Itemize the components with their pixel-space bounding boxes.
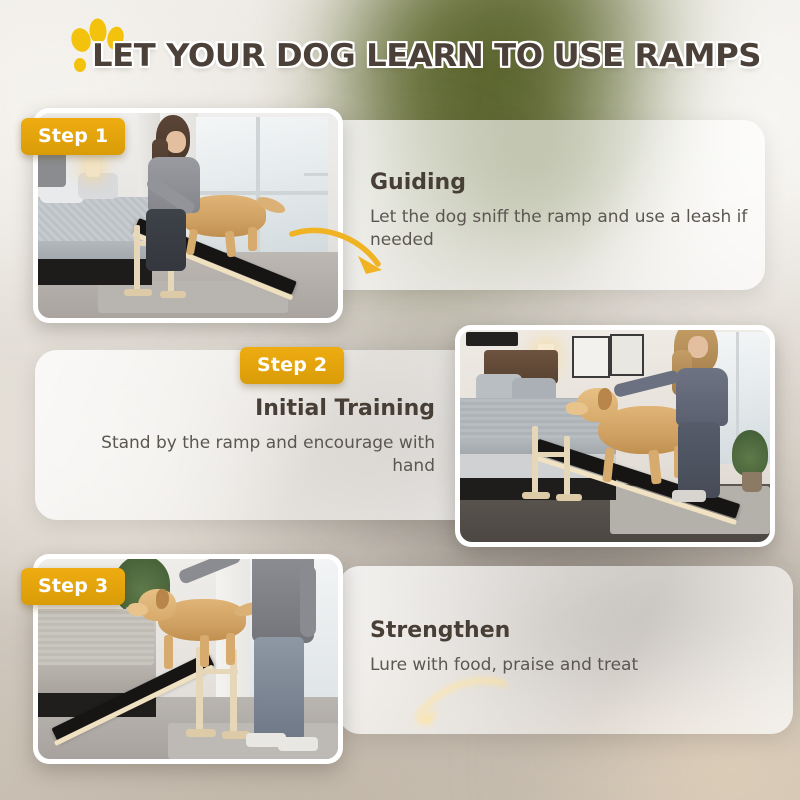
step-3-badge: Step 3 [21, 568, 125, 605]
step-row-2: Initial Training Stand by the ramp and e… [0, 322, 800, 547]
step-2-badge: Step 2 [240, 347, 344, 384]
step-3-heading: Strengthen [370, 620, 510, 642]
step-row-3: Strengthen Lure with food, praise and tr… [0, 548, 800, 763]
step-3-text-panel: Strengthen Lure with food, praise and tr… [338, 566, 793, 734]
infographic-poster: LET YOUR DOG LEARN TO USE RAMPS Guiding … [0, 0, 800, 800]
page-title: LET YOUR DOG LEARN TO USE RAMPS [92, 41, 799, 72]
step-2-photo [460, 330, 770, 542]
step-1-body: Let the dog sniff the ramp and use a lea… [370, 206, 750, 253]
step-2-body: Stand by the ramp and encourage with han… [55, 432, 435, 479]
step-1-text-panel: Guiding Let the dog sniff the ramp and u… [310, 120, 765, 290]
poster-header: LET YOUR DOG LEARN TO USE RAMPS [0, 0, 800, 100]
step-1-heading: Guiding [370, 172, 466, 194]
step-3-body: Lure with food, praise and treat [370, 654, 760, 677]
step-1-badge: Step 1 [21, 118, 125, 155]
step-2-heading: Initial Training [255, 398, 435, 420]
step-row-1: Guiding Let the dog sniff the ramp and u… [0, 100, 800, 320]
step-2-photo-card [455, 325, 775, 547]
